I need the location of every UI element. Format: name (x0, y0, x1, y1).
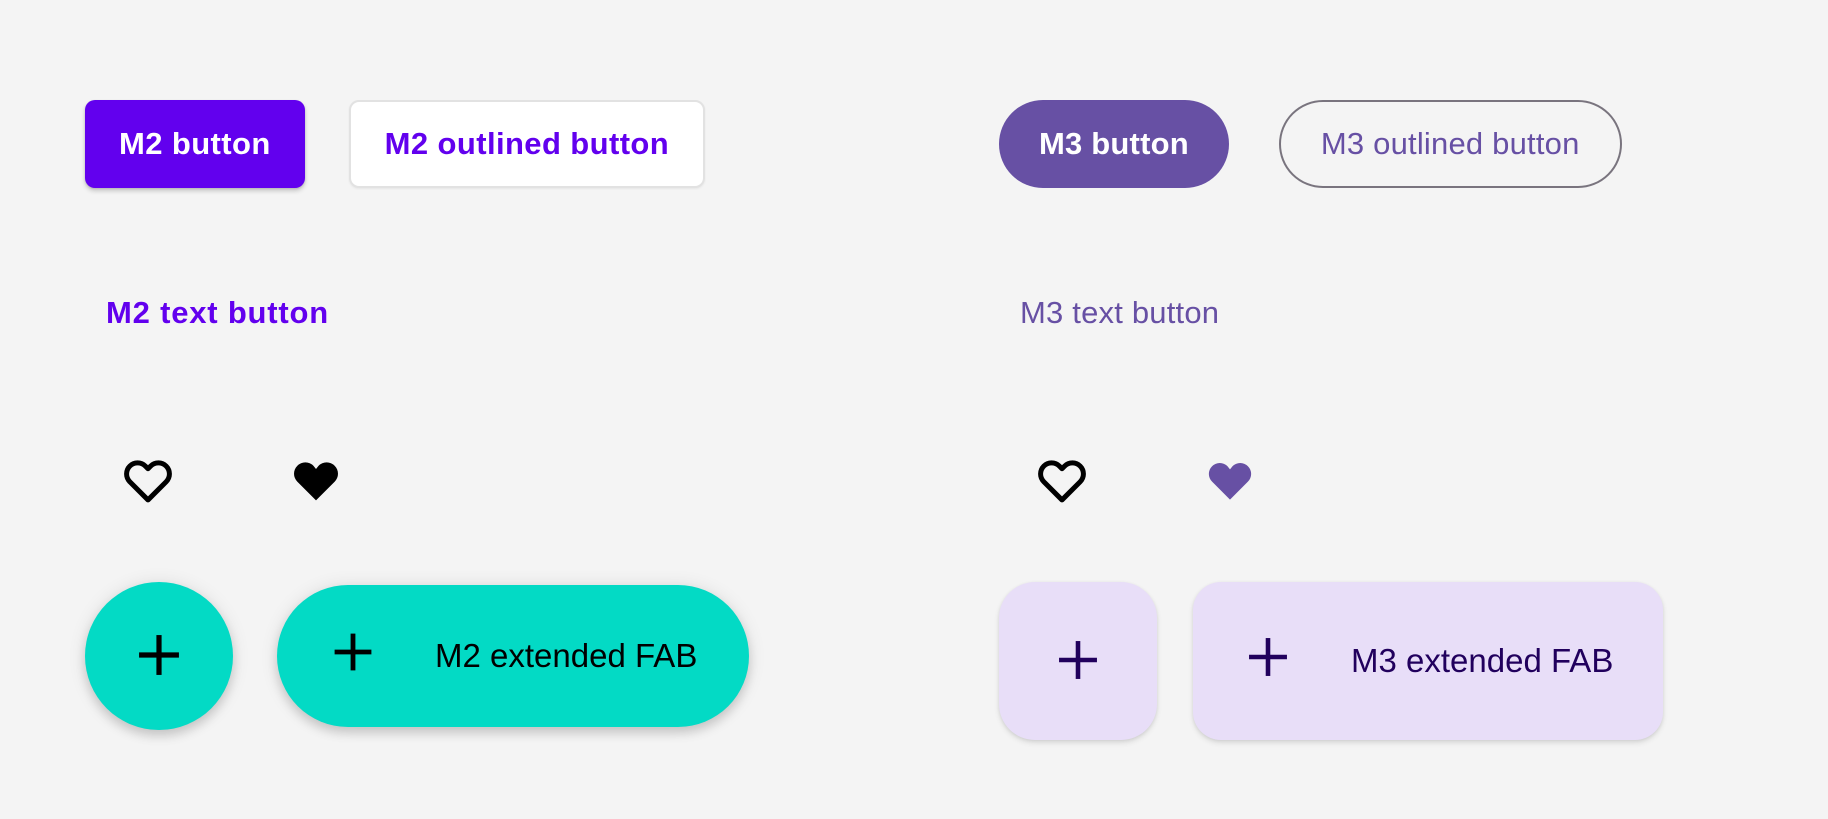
m2-button-row: M2 button M2 outlined button (85, 100, 705, 188)
material2-column: M2 button M2 outlined button M2 text but… (0, 0, 914, 819)
m2-fab[interactable] (85, 582, 233, 730)
m2-icon-row (120, 452, 344, 508)
m3-extended-fab[interactable]: M3 extended FAB (1193, 582, 1663, 740)
m2-favorite-outline-icon-button[interactable] (120, 452, 176, 508)
plus-icon (329, 628, 377, 684)
m3-outlined-button[interactable]: M3 outlined button (1279, 100, 1622, 188)
plus-icon (1243, 632, 1293, 690)
m3-fab-row: M3 extended FAB (999, 582, 1663, 740)
m3-fab[interactable] (999, 582, 1157, 740)
heart-filled-icon (1205, 457, 1255, 503)
m3-text-button-row: M3 text button (1020, 295, 1219, 331)
m2-fab-row: M2 extended FAB (85, 582, 749, 730)
m2-favorite-filled-icon-button[interactable] (288, 452, 344, 508)
m2-outlined-button[interactable]: M2 outlined button (349, 100, 705, 188)
heart-outline-icon (122, 456, 174, 504)
plus-icon (1053, 635, 1103, 688)
m3-favorite-filled-icon-button[interactable] (1202, 452, 1258, 508)
m3-text-button[interactable]: M3 text button (1020, 295, 1219, 331)
material3-column: M3 button M3 outlined button M3 text but… (914, 0, 1828, 819)
m3-extended-fab-label: M3 extended FAB (1351, 642, 1613, 680)
component-showcase: M2 button M2 outlined button M2 text but… (0, 0, 1828, 819)
m2-extended-fab[interactable]: M2 extended FAB (277, 585, 749, 727)
m2-text-button-row: M2 text button (106, 295, 329, 331)
heart-filled-icon (290, 456, 342, 504)
m2-extended-fab-label: M2 extended FAB (435, 637, 697, 675)
m3-favorite-outline-icon-button[interactable] (1034, 452, 1090, 508)
m3-filled-button[interactable]: M3 button (999, 100, 1229, 188)
m3-icon-row (1034, 452, 1258, 508)
heart-outline-icon (1036, 456, 1088, 504)
m3-button-row: M3 button M3 outlined button (999, 100, 1622, 188)
plus-icon (133, 629, 185, 684)
m2-filled-button[interactable]: M2 button (85, 100, 305, 188)
m2-text-button[interactable]: M2 text button (106, 295, 329, 331)
